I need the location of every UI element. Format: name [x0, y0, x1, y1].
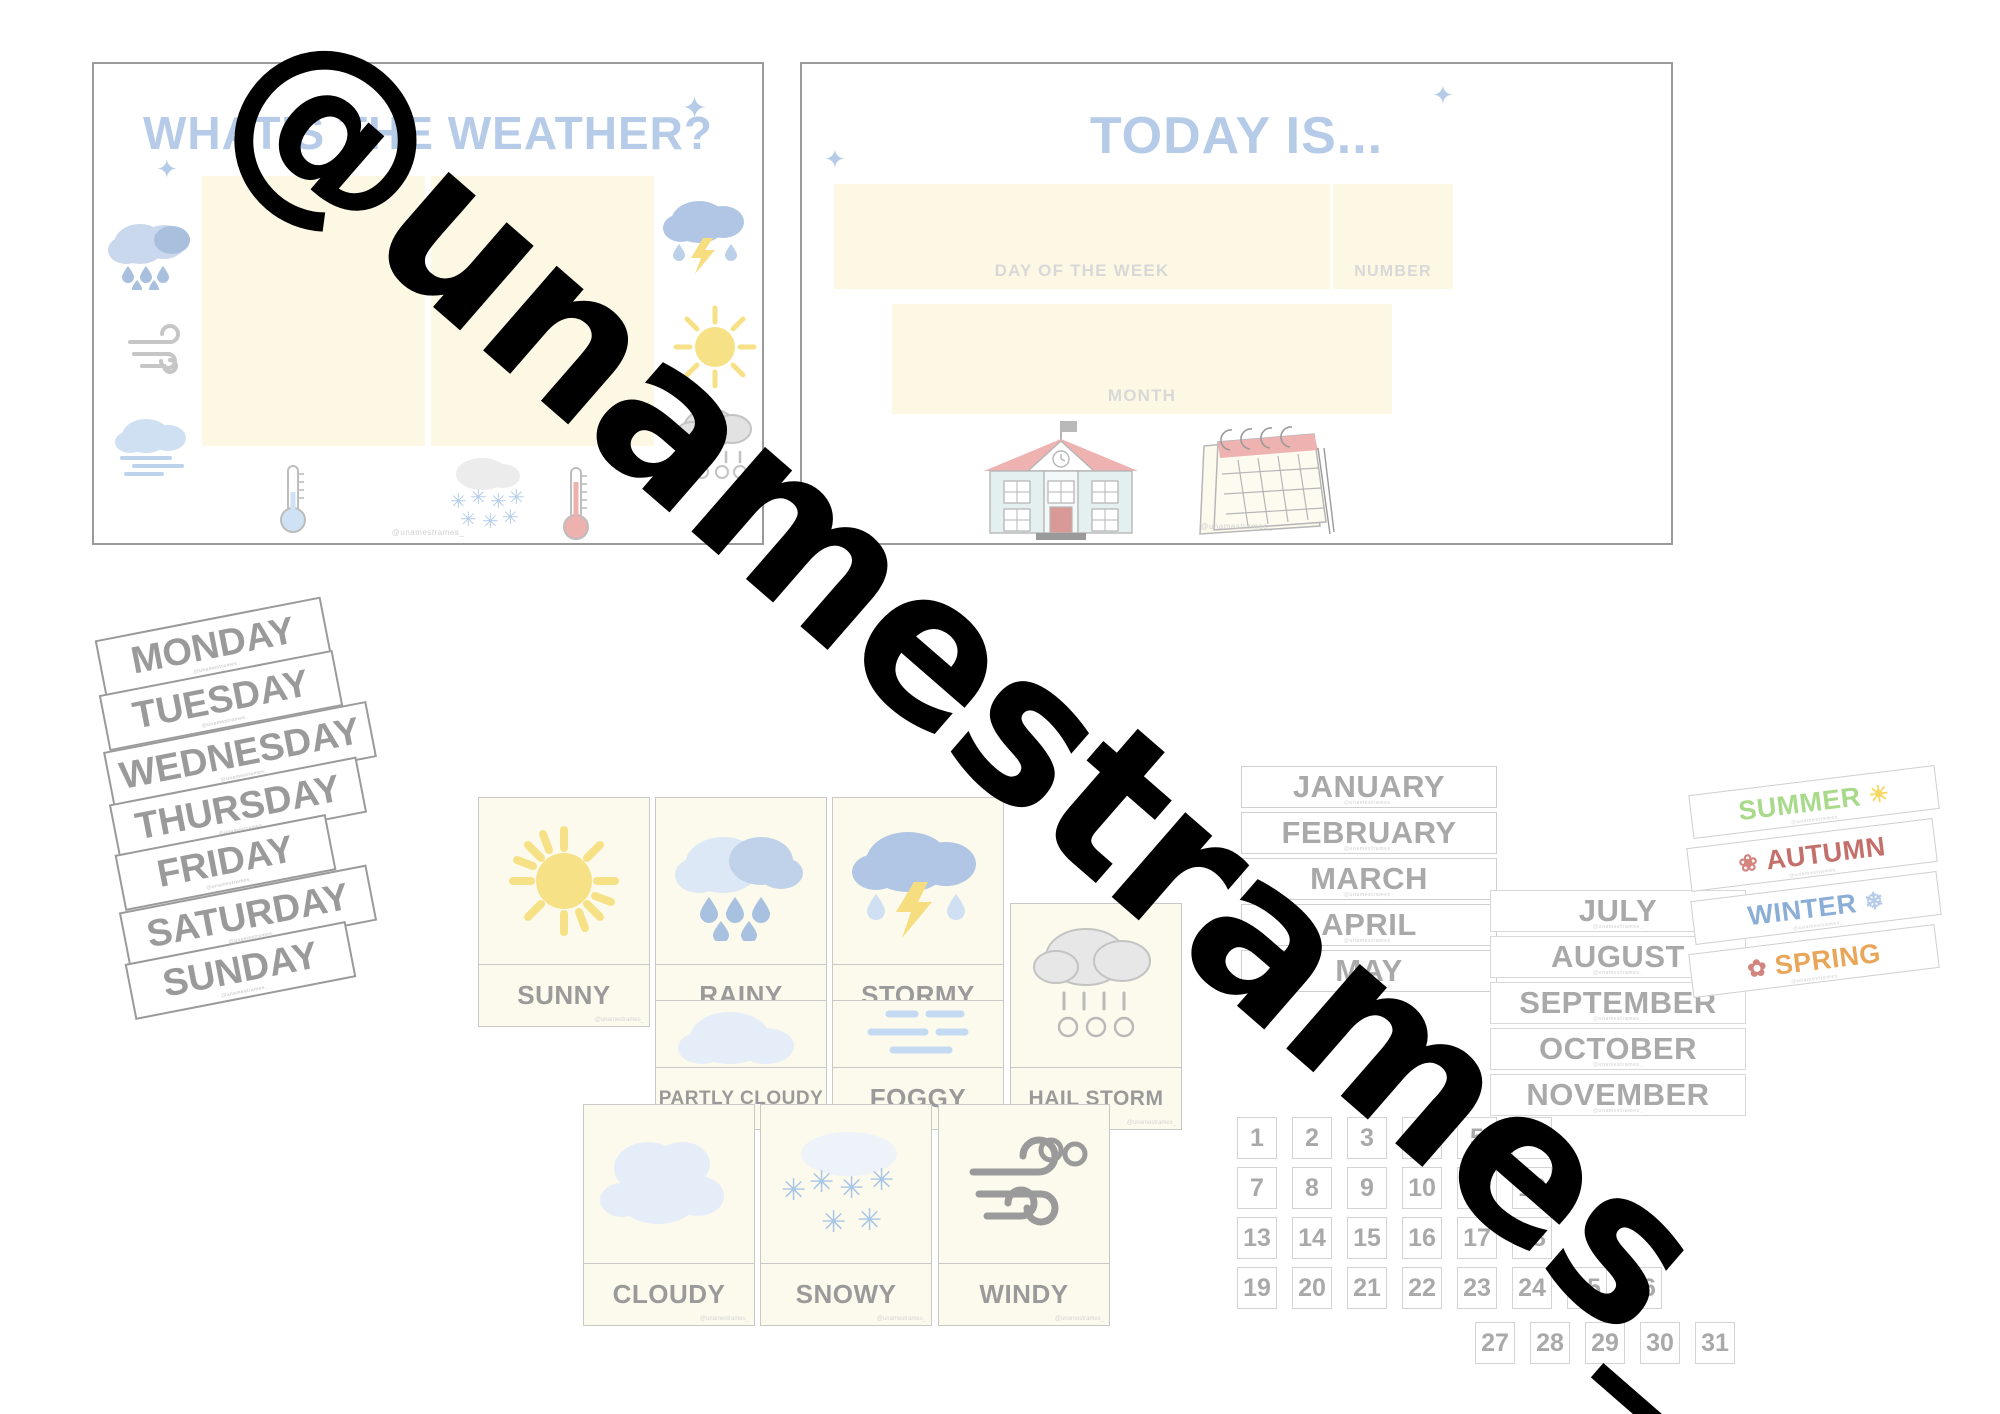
number-chip[interactable]: 13 — [1237, 1217, 1277, 1259]
wind-icon — [124, 320, 196, 380]
sun-icon: ☀ — [1867, 779, 1891, 808]
svg-text:✳: ✳ — [470, 485, 487, 509]
number-chip[interactable]: 4 — [1402, 1117, 1442, 1159]
number-chip[interactable]: 12 — [1512, 1167, 1552, 1209]
weather-card-art — [833, 1001, 1003, 1067]
weather-card-label: SNOWY — [796, 1279, 897, 1310]
weather-card-art — [833, 798, 1003, 964]
month-slip-april[interactable]: APRIL @unamestrames_ — [1241, 904, 1497, 946]
sparkle-icon: ✦ — [1432, 82, 1454, 108]
sparkle-icon: ✦ — [824, 146, 846, 172]
number-chip[interactable]: 6 — [1512, 1117, 1552, 1159]
weather-card-label: SUNNY — [517, 980, 611, 1011]
weekday-slip-group: MONDAY @unamestrames_ TUESDAY @unamestra… — [80, 600, 440, 1020]
number-label: 31 — [1701, 1329, 1729, 1358]
slip-credit: @unamestrames_ — [1242, 938, 1496, 944]
number-chip[interactable]: 19 — [1237, 1267, 1277, 1309]
number-chip[interactable]: 30 — [1640, 1322, 1680, 1364]
today-number-label: NUMBER — [1333, 263, 1453, 281]
number-chip[interactable]: 29 — [1585, 1322, 1625, 1364]
number-label: 25 — [1573, 1274, 1601, 1303]
number-chip[interactable]: 7 — [1237, 1167, 1277, 1209]
card-credit: @unamestrames_ — [1127, 1120, 1176, 1126]
month-slip-october[interactable]: OCTOBER @unamestrames_ — [1490, 1028, 1746, 1070]
weather-card-windy[interactable]: WINDY @unamestrames_ — [938, 1104, 1110, 1326]
number-chip[interactable]: 28 — [1530, 1322, 1570, 1364]
number-chip[interactable]: 15 — [1347, 1217, 1387, 1259]
weather-card-art — [584, 1105, 754, 1263]
panel-today-credit: @unamestrames_ — [802, 522, 1671, 531]
number-label: 6 — [1525, 1124, 1539, 1153]
hail-cloud-icon — [1030, 921, 1162, 1051]
panel-today-is: TODAY IS... ✦ ✦ DAY OF THE WEEK NUMBER M… — [800, 62, 1673, 545]
today-month-box[interactable]: MONTH — [892, 304, 1392, 414]
slip-credit: @unamestrames_ — [1491, 1108, 1745, 1114]
weather-card-art — [939, 1105, 1109, 1263]
svg-text:✳: ✳ — [781, 1173, 806, 1208]
number-chip[interactable]: 22 — [1402, 1267, 1442, 1309]
weather-card-art — [1011, 904, 1181, 1067]
number-chip[interactable]: 20 — [1292, 1267, 1332, 1309]
number-label: 7 — [1250, 1174, 1264, 1203]
number-chip[interactable]: 27 — [1475, 1322, 1515, 1364]
thermometer-cold-icon — [276, 462, 310, 536]
number-chip[interactable]: 31 — [1695, 1322, 1735, 1364]
number-label: 30 — [1646, 1329, 1674, 1358]
sun-icon — [672, 304, 758, 390]
number-label: 8 — [1305, 1174, 1319, 1203]
number-label: 18 — [1518, 1224, 1546, 1253]
panel-what-is-the-weather: WHAT'S THE WEATHER? ✦ ✦ — [92, 62, 764, 545]
leaf-icon: ❀ — [1737, 848, 1760, 877]
number-label: 9 — [1360, 1174, 1374, 1203]
number-label: 19 — [1243, 1274, 1271, 1303]
number-label: 1 — [1250, 1124, 1264, 1153]
number-label: 24 — [1518, 1274, 1546, 1303]
number-chip[interactable]: 1 — [1237, 1117, 1277, 1159]
fog-cloud-icon — [112, 414, 196, 478]
weather-card-hail-storm[interactable]: HAIL STORM @unamestrames_ — [1010, 903, 1182, 1130]
hail-cloud-icon — [674, 402, 760, 482]
month-slip-january[interactable]: JANUARY @unamestrames_ — [1241, 766, 1497, 808]
number-chip[interactable]: 24 — [1512, 1267, 1552, 1309]
svg-text:✳: ✳ — [821, 1205, 846, 1240]
month-slip-may[interactable]: MAY @unamestrames_ — [1241, 950, 1497, 992]
month-slip-february[interactable]: FEBRUARY @unamestrames_ — [1241, 812, 1497, 854]
weather-card-footer: SUNNY @unamestrames_ — [479, 964, 649, 1026]
slip-credit: @unamestrames_ — [1242, 984, 1496, 990]
number-label: 29 — [1591, 1329, 1619, 1358]
number-label: 27 — [1481, 1329, 1509, 1358]
number-label: 10 — [1408, 1174, 1436, 1203]
card-credit: @unamestrames_ — [1055, 1316, 1104, 1322]
number-chip[interactable]: 10 — [1402, 1167, 1442, 1209]
number-label: 20 — [1298, 1274, 1326, 1303]
weather-card-rainy[interactable]: RAINY @unamestrames_ — [655, 797, 827, 1027]
number-label: 14 — [1298, 1224, 1326, 1253]
number-chip[interactable]: 26 — [1622, 1267, 1662, 1309]
number-chip[interactable]: 16 — [1402, 1217, 1442, 1259]
card-credit: @unamestrames_ — [877, 1316, 926, 1322]
number-chip[interactable]: 14 — [1292, 1217, 1332, 1259]
number-chip[interactable]: 9 — [1347, 1167, 1387, 1209]
svg-text:✳: ✳ — [869, 1163, 894, 1198]
month-slip-november[interactable]: NOVEMBER @unamestrames_ — [1490, 1074, 1746, 1116]
weather-card-snowy[interactable]: ✳✳✳✳ ✳✳ SNOWY @unamestrames_ — [760, 1104, 932, 1326]
number-chip[interactable]: 5 — [1457, 1117, 1497, 1159]
svg-text:✳: ✳ — [839, 1171, 864, 1206]
fog-icon — [853, 1004, 983, 1064]
sparkle-icon: ✦ — [682, 94, 707, 124]
sun-icon — [505, 822, 623, 940]
weather-card-label: WINDY — [979, 1279, 1068, 1310]
slip-credit: @unamestrames_ — [1491, 1062, 1745, 1068]
thunderstorm-icon — [659, 192, 751, 274]
number-label: 26 — [1628, 1274, 1656, 1303]
panel-today-title: TODAY IS... — [802, 106, 1671, 166]
month-slip-march[interactable]: MARCH @unamestrames_ — [1241, 858, 1497, 900]
snowflake-icon: ❄ — [1863, 886, 1886, 915]
number-label: 22 — [1408, 1274, 1436, 1303]
snow-cloud-icon: ✳✳✳✳ ✳✳ — [777, 1128, 915, 1240]
today-day-of-week-label: DAY OF THE WEEK — [834, 261, 1330, 281]
number-label: 15 — [1353, 1224, 1381, 1253]
slip-credit: @unamestrames_ — [1242, 800, 1496, 806]
weather-card-footer: WINDY @unamestrames_ — [939, 1263, 1109, 1325]
number-chip[interactable]: 3 — [1347, 1117, 1387, 1159]
weather-card-stormy[interactable]: STORMY @unamestrames_ — [832, 797, 1004, 1027]
weather-card-art — [479, 798, 649, 964]
weather-card-art: ✳✳✳✳ ✳✳ — [761, 1105, 931, 1263]
weather-card-cloudy[interactable]: CLOUDY @unamestrames_ — [583, 1104, 755, 1326]
panel-weather-title: WHAT'S THE WEATHER? — [94, 106, 762, 160]
slip-credit: @unamestrames_ — [1242, 846, 1496, 852]
sparkle-icon: ✦ — [156, 156, 178, 182]
card-credit: @unamestrames_ — [700, 1316, 749, 1322]
number-label: 28 — [1536, 1329, 1564, 1358]
svg-text:✳: ✳ — [857, 1203, 882, 1238]
number-label: 5 — [1470, 1124, 1484, 1153]
number-chip[interactable]: 18 — [1512, 1217, 1552, 1259]
weather-answer-box-left[interactable] — [202, 176, 425, 446]
number-label: 11 — [1464, 1174, 1490, 1203]
slip-credit: @unamestrames_ — [1242, 892, 1496, 898]
weather-card-footer: SNOWY @unamestrames_ — [761, 1263, 931, 1325]
thunderstorm-icon — [848, 820, 988, 942]
number-chip[interactable]: 11 — [1457, 1167, 1497, 1209]
poster-sheet: WHAT'S THE WEATHER? ✦ ✦ — [0, 0, 2000, 1414]
rain-cloud-icon — [106, 212, 198, 290]
cloud-icon — [600, 1128, 738, 1240]
weather-answer-box-right[interactable] — [431, 176, 654, 446]
number-label: 23 — [1463, 1274, 1491, 1303]
weather-card-label: CLOUDY — [613, 1279, 726, 1310]
panel-weather-credit: @unamestrames_ — [94, 528, 762, 537]
number-label: 3 — [1360, 1124, 1374, 1153]
partly-cloudy-icon — [676, 1004, 806, 1064]
rain-cloud-icon — [671, 821, 811, 941]
number-chip[interactable]: 8 — [1292, 1167, 1332, 1209]
weather-card-art — [656, 1001, 826, 1067]
number-chip[interactable]: 21 — [1347, 1267, 1387, 1309]
today-day-of-week-box[interactable]: DAY OF THE WEEK — [834, 184, 1330, 289]
today-number-box[interactable]: NUMBER — [1333, 184, 1453, 289]
today-month-label: MONTH — [892, 386, 1392, 406]
number-chip[interactable]: 17 — [1457, 1217, 1497, 1259]
svg-text:✳: ✳ — [502, 505, 519, 529]
number-label: 12 — [1518, 1174, 1546, 1203]
weather-card-footer: CLOUDY @unamestrames_ — [584, 1263, 754, 1325]
number-chip[interactable]: 23 — [1457, 1267, 1497, 1309]
slip-credit: @unamestrames_ — [1491, 1016, 1745, 1022]
svg-text:✳: ✳ — [809, 1165, 834, 1200]
number-label: 17 — [1463, 1224, 1491, 1253]
number-label: 21 — [1353, 1274, 1381, 1303]
number-label: 2 — [1305, 1124, 1319, 1153]
wind-icon — [957, 1128, 1091, 1240]
number-chip[interactable]: 2 — [1292, 1117, 1332, 1159]
card-credit: @unamestrames_ — [595, 1017, 644, 1023]
flower-icon: ✿ — [1746, 953, 1769, 982]
weather-card-art — [656, 798, 826, 964]
number-label: 4 — [1415, 1124, 1429, 1153]
number-label: 13 — [1243, 1224, 1271, 1253]
snow-cloud-icon: ✳✳✳✳ ✳✳✳ — [444, 454, 530, 532]
number-label: 16 — [1408, 1224, 1436, 1253]
weather-card-sunny[interactable]: SUNNY @unamestrames_ — [478, 797, 650, 1027]
number-chip[interactable]: 25 — [1567, 1267, 1607, 1309]
